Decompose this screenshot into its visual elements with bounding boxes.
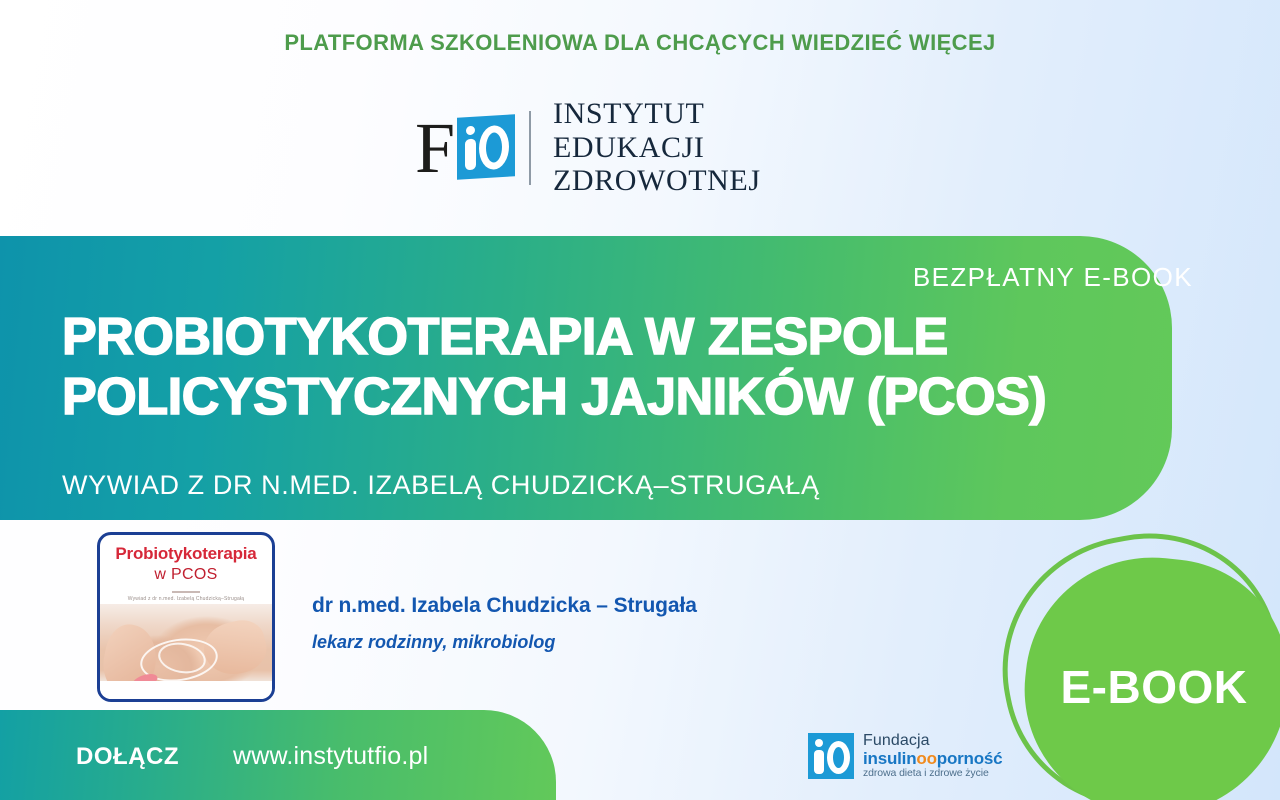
photo-white-band xyxy=(100,681,272,699)
foundation-logo: Fundacja insulinooporność zdrowa dieta i… xyxy=(808,731,1002,781)
author-name: dr n.med. Izabela Chudzicka – Strugała xyxy=(312,594,697,618)
foundation-line2-highlight: oo xyxy=(916,749,936,768)
logo-divider xyxy=(529,111,531,185)
hero-kicker: BEZPŁATNY E-BOOK xyxy=(913,262,1193,293)
book-cover-byline: Wywiad z dr n.med. Izabelą Chudzicką–Str… xyxy=(100,596,272,602)
logo-i-dot-icon xyxy=(466,125,475,135)
fio-logo-mark: F xyxy=(415,108,515,188)
institute-name-line1: INSTYTUT xyxy=(553,97,865,131)
foundation-tagline: zdrowa dieta i zdrowe życie xyxy=(863,768,1002,779)
footer-website-link[interactable]: www.instytutfio.pl xyxy=(233,742,428,771)
footer-join-label: DOŁĄCZ xyxy=(76,743,179,771)
promo-poster: PLATFORMA SZKOLENIOWA DLA CHCĄCYCH WIEDZ… xyxy=(0,0,1280,800)
platform-tagline: PLATFORMA SZKOLENIOWA DLA CHCĄCYCH WIEDZ… xyxy=(0,30,1280,56)
book-cover-photo xyxy=(100,604,272,699)
logo-letter-f: F xyxy=(415,114,455,182)
foundation-i-stem-icon xyxy=(814,750,824,774)
institute-name-line2: EDUKACJI ZDROWOTNEJ xyxy=(553,131,865,198)
book-cover-thumbnail[interactable]: Probiotykoterapia w PCOS Wywiad z dr n.m… xyxy=(97,532,275,702)
book-cover-title-line2: w PCOS xyxy=(100,566,272,584)
logo-io-glyph xyxy=(457,114,515,180)
foundation-text: Fundacja insulinooporność zdrowa dieta i… xyxy=(863,733,1002,778)
foundation-line2: insulinooporność xyxy=(863,750,1002,768)
ebook-badge-label: E-BOOK xyxy=(1040,660,1268,714)
logo-o-ring-icon xyxy=(479,124,509,170)
hero-title-line2: POLICYSTYCZNYCH JAJNIKÓW (PCOS) xyxy=(62,367,1142,427)
foundation-line1: Fundacja xyxy=(863,733,1002,750)
foundation-line2-c: porność xyxy=(937,749,1003,768)
foundation-logo-mark xyxy=(808,733,854,779)
institute-name: INSTYTUT EDUKACJI ZDROWOTNEJ xyxy=(553,97,865,198)
foundation-o-ring-icon xyxy=(827,741,850,774)
hero-title-line1: PROBIOTYKOTERAPIA W ZESPOLE xyxy=(62,307,1142,367)
foundation-line2-a: insulin xyxy=(863,749,916,768)
hero-title: PROBIOTYKOTERAPIA W ZESPOLE POLICYSTYCZN… xyxy=(62,307,1142,427)
hero-subtitle: WYWIAD Z DR N.MED. IZABELĄ CHUDZICKĄ–STR… xyxy=(62,470,820,501)
book-cover-rule xyxy=(172,591,200,593)
author-role: lekarz rodzinny, mikrobiolog xyxy=(312,632,555,653)
foundation-i-dot-icon xyxy=(815,739,823,747)
institute-logo: F INSTYTUT EDUKACJI ZDROWOTNEJ xyxy=(415,105,865,190)
logo-i-stem-icon xyxy=(465,138,476,170)
book-cover-title-line1: Probiotykoterapia xyxy=(100,544,272,564)
